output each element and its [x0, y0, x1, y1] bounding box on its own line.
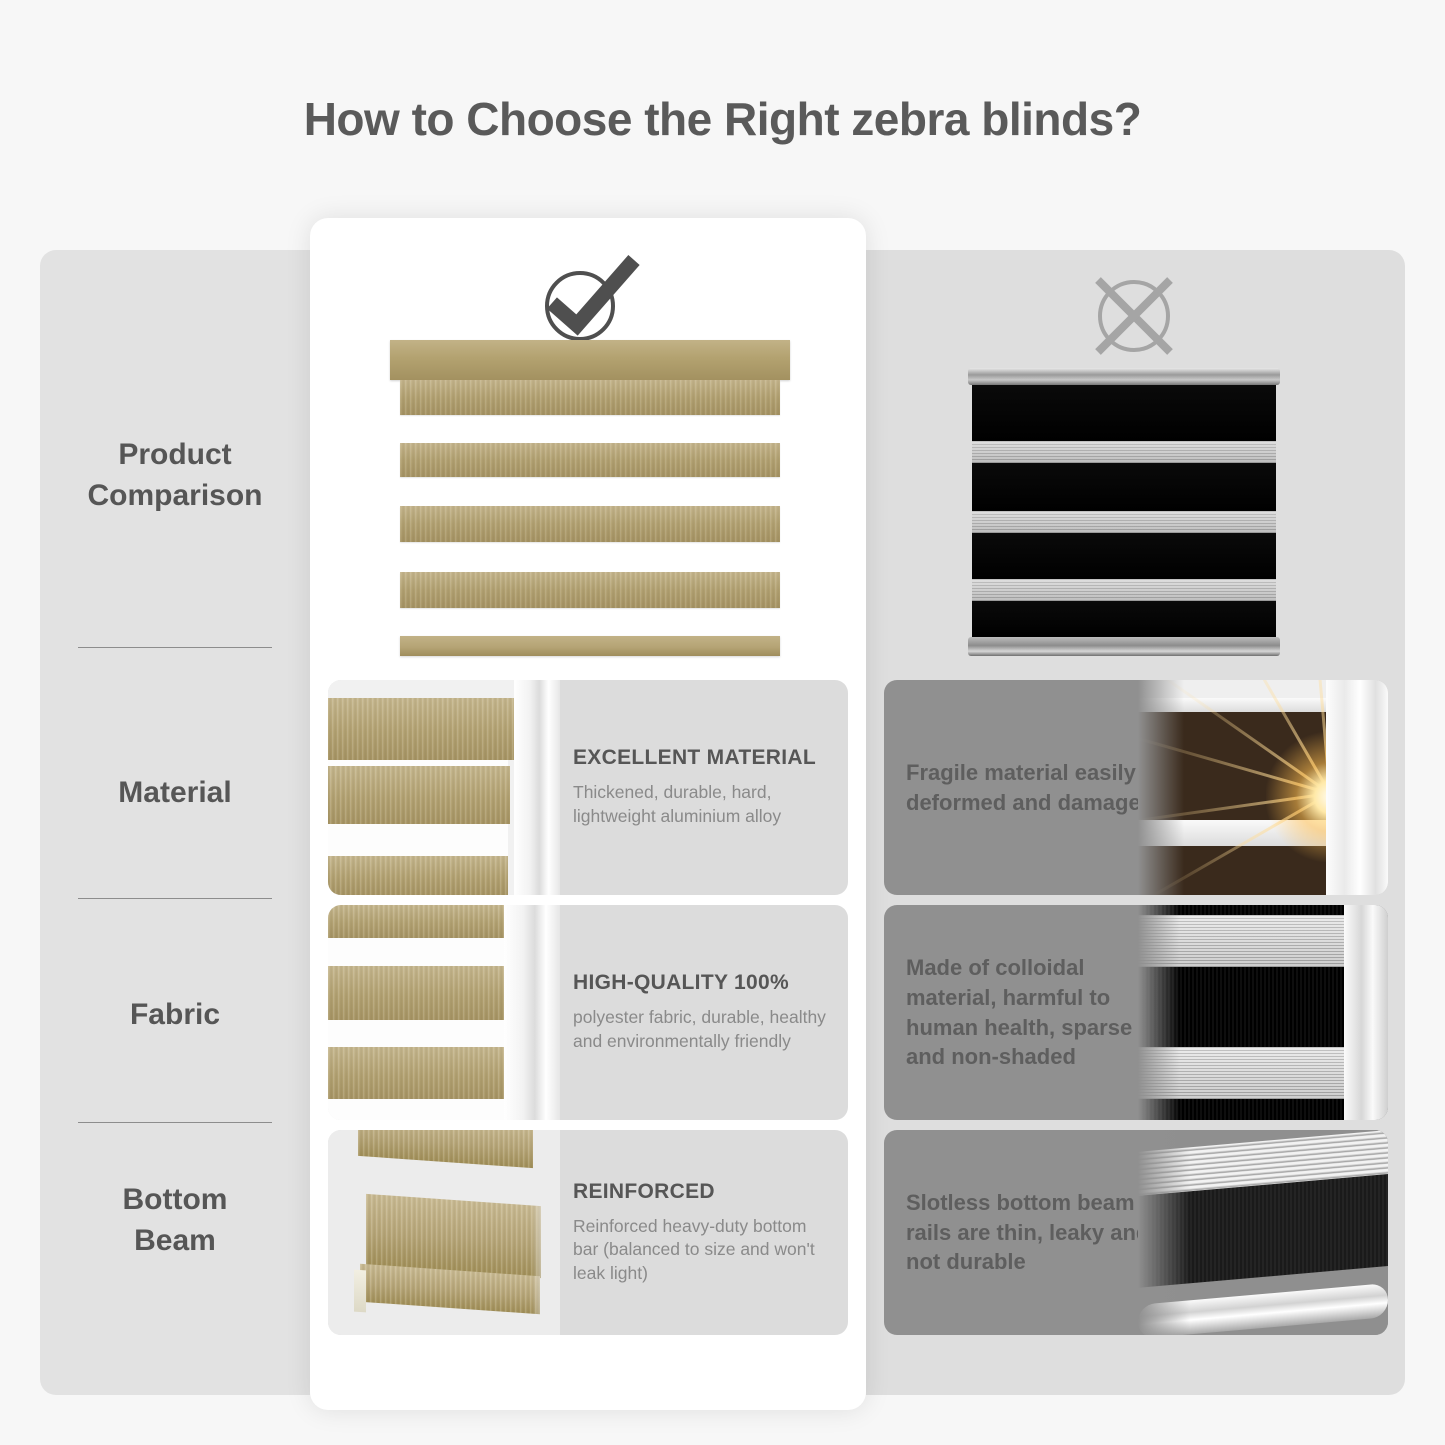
black-band-2 [972, 463, 1276, 511]
label-line-1: Product Comparison [40, 435, 310, 516]
label-column: Product Comparison Material Fabric Botto… [40, 250, 310, 1395]
bad-fabric-text: Made of colloidal material, harmful to h… [906, 905, 1168, 1120]
good-row-fabric: HIGH-QUALITY 100% polyester fabric, dura… [328, 905, 848, 1120]
good-fabric-heading: HIGH-QUALITY 100% [573, 971, 836, 995]
label-divider-1 [78, 647, 272, 648]
good-material-text: EXCELLENT MATERIAL Thickened, durable, h… [573, 680, 836, 895]
label-divider-3 [78, 1122, 272, 1123]
black-band-4 [972, 601, 1276, 637]
black-zebra-blind-hero [968, 368, 1280, 656]
bad-row-material: Fragile material easily deformed and dam… [884, 680, 1388, 895]
good-material-heading: EXCELLENT MATERIAL [573, 746, 836, 770]
bad-row-bottom-beam: Slotless bottom beam rails are thin, lea… [884, 1130, 1388, 1335]
good-row-material: EXCELLENT MATERIAL Thickened, durable, h… [328, 680, 848, 895]
good-bottom-beam-text: REINFORCED Reinforced heavy-duty bottom … [573, 1130, 836, 1335]
beige-bottom-bar-image [328, 1130, 560, 1335]
page-title: How to Choose the Right zebra blinds? [0, 92, 1445, 146]
label-fabric: Fabric [40, 995, 310, 1036]
beige-headrail [390, 340, 790, 380]
black-sheer-1 [972, 441, 1276, 463]
black-sheer-2 [972, 511, 1276, 533]
black-band-3 [972, 533, 1276, 579]
bad-material-text: Fragile material easily deformed and dam… [906, 680, 1168, 895]
label-product-comparison: Product Comparison [40, 435, 310, 516]
beige-bottom-bar [400, 636, 780, 656]
beige-blind-closeup-image [328, 680, 560, 895]
beige-fabric-closeup-image [328, 905, 560, 1120]
good-fabric-text: HIGH-QUALITY 100% polyester fabric, dura… [573, 905, 836, 1120]
bad-row-fabric: Made of colloidal material, harmful to h… [884, 905, 1388, 1120]
infographic-page: How to Choose the Right zebra blinds? Pr… [0, 0, 1445, 1445]
check-circle-icon [534, 252, 644, 348]
black-headrail [968, 368, 1280, 385]
good-fabric-body: polyester fabric, durable, healthy and e… [573, 1006, 836, 1053]
good-row-bottom-beam: REINFORCED Reinforced heavy-duty bottom … [328, 1130, 848, 1335]
label-material: Material [40, 773, 310, 814]
beige-slat-4 [400, 572, 780, 608]
cross-circle-icon [1082, 268, 1186, 364]
black-sheer-3 [972, 579, 1276, 601]
black-band-1 [972, 385, 1276, 441]
thin-metal-rail-image [1138, 1130, 1388, 1335]
bb-slat-top [358, 1130, 533, 1168]
good-bottom-beam-body: Reinforced heavy-duty bottom bar (balanc… [573, 1215, 836, 1286]
good-material-body: Thickened, durable, hard, lightweight al… [573, 781, 836, 828]
black-bottom-rail [968, 637, 1280, 656]
beige-slat-3 [400, 506, 780, 542]
bad-bottom-beam-text: Slotless bottom beam rails are thin, lea… [906, 1130, 1168, 1335]
beige-slat-2 [400, 443, 780, 477]
label-divider-2 [78, 898, 272, 899]
label-bottom-beam: Bottom Beam [40, 1180, 310, 1261]
label-bottom-beam-text: Bottom Beam [95, 1180, 255, 1261]
beige-zebra-blind-hero [390, 340, 790, 670]
beige-slat-1 [400, 380, 780, 415]
good-bottom-beam-heading: REINFORCED [573, 1180, 836, 1204]
sun-flare-image [1138, 680, 1388, 895]
black-sparse-blind-image [1138, 905, 1388, 1120]
